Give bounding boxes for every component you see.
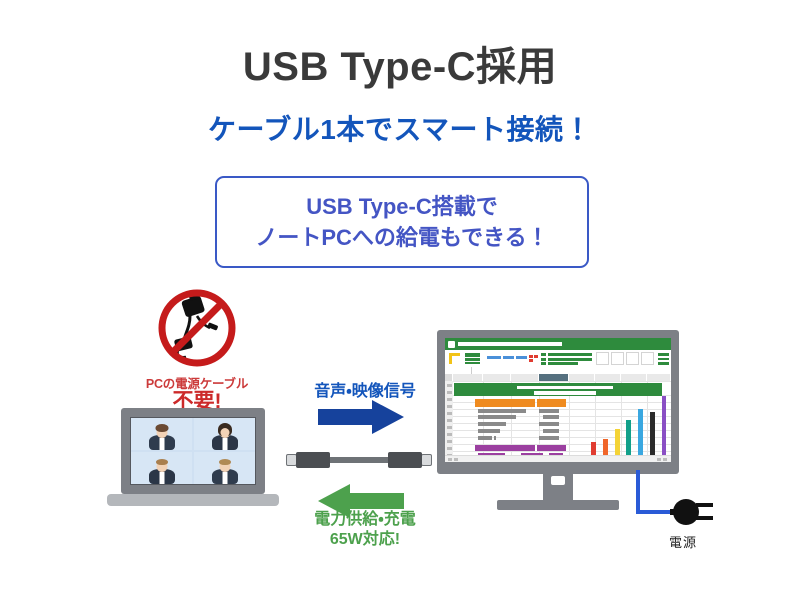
embedded-bar-chart (588, 390, 670, 462)
spreadsheet-ribbon[interactable] (445, 350, 671, 368)
table-header-row (475, 399, 535, 407)
usb-c-tip-right (421, 454, 432, 466)
table-header-row (537, 399, 566, 407)
table-row (543, 415, 559, 419)
power-delivery-label: 電力供給・充電 65W対応! (285, 510, 445, 551)
document-icon (448, 341, 455, 348)
av-signal-arrow-icon (318, 400, 404, 439)
participant-tile (194, 452, 255, 484)
laptop-video-conference (107, 408, 279, 518)
callout-line-2: ノートPCへの給電もできる！ (255, 225, 548, 250)
column-headers (445, 374, 671, 381)
monitor-screen (445, 338, 671, 462)
chart-bar (662, 396, 667, 457)
table-row (543, 429, 559, 433)
spreadsheet-titlebar (445, 338, 671, 350)
selected-column-header (539, 374, 569, 381)
chart-bar (638, 409, 643, 457)
no-power-cable-badge: PCの電源ケーブル 不要! (137, 288, 257, 413)
page-title: USB Type-C採用 (0, 34, 800, 92)
table-row (478, 415, 516, 419)
feature-callout-box: USB Type-C搭載で ノートPCへの給電もできる！ (215, 176, 589, 268)
titlebar-text-placeholder (458, 342, 562, 346)
monitor-base (497, 500, 619, 510)
power-connection: 電源 (628, 470, 738, 560)
chart-bar (626, 420, 631, 457)
table-row (539, 422, 559, 426)
page-subtitle: ケーブル1本でスマート接続！ (0, 108, 800, 148)
table-row (539, 436, 559, 440)
av-signal-label: 音声・映像信号 (290, 377, 440, 401)
no-power-adapter-icon (150, 288, 244, 370)
slide-canvas: USB Type-C採用 ケーブル1本でスマート接続！ USB Type-C搭載… (0, 0, 800, 600)
participant-tile (194, 418, 255, 450)
usb-c-connector-left (296, 452, 330, 468)
power-delivery-line-1: 電力供給・充電 (285, 510, 445, 530)
spreadsheet-statusbar (445, 455, 671, 462)
table-row (539, 409, 559, 413)
power-plug-icon (670, 499, 713, 525)
power-cord-icon (628, 470, 738, 530)
chart-bar (650, 412, 655, 457)
laptop-screen (130, 417, 256, 485)
table-row (478, 429, 500, 433)
row-headers (445, 381, 453, 462)
table-row (478, 436, 492, 440)
summary-row (475, 445, 535, 451)
table-row (478, 422, 506, 426)
laptop-base (107, 494, 279, 506)
table-row (478, 409, 526, 413)
usb-c-connector-right (388, 452, 422, 468)
monitor-neck-notch (551, 476, 565, 485)
chart-bar (615, 429, 620, 457)
table-row (494, 436, 496, 440)
participant-tile (131, 452, 192, 484)
power-label: 電源 (628, 532, 738, 551)
callout-line-1: USB Type-C搭載で (306, 194, 498, 219)
participant-tile (131, 418, 192, 450)
power-delivery-line-2: 65W対応! (285, 530, 445, 550)
usb-c-cable (286, 450, 432, 470)
summary-row (537, 445, 566, 451)
